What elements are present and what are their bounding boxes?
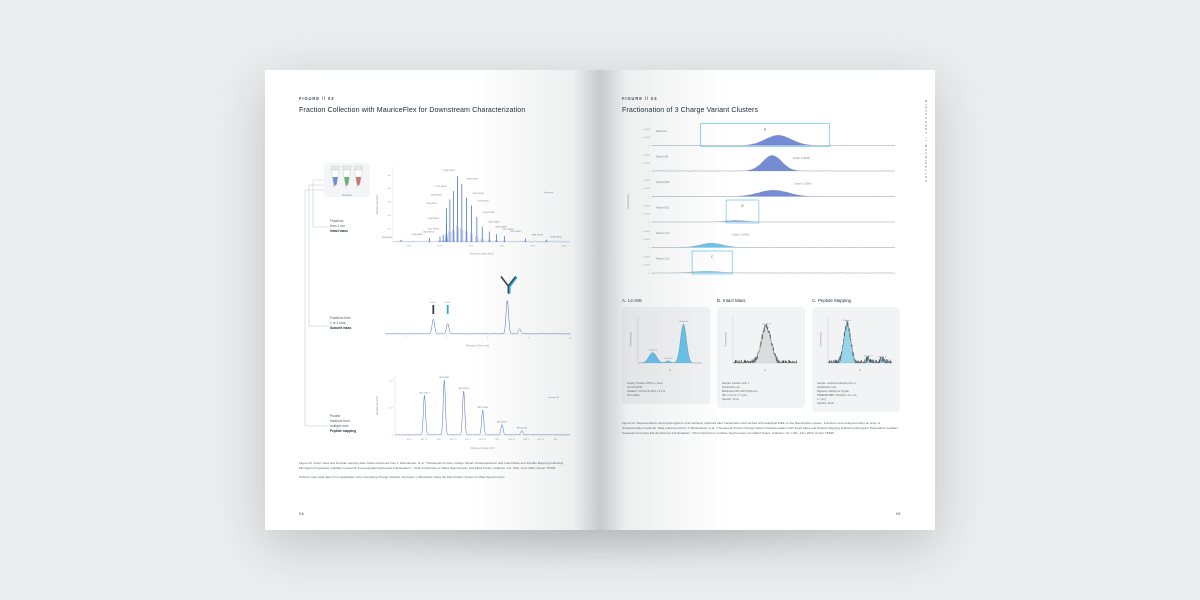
svg-text:1e7: 1e7 [389, 408, 393, 410]
svg-text:10: 10 [569, 338, 572, 340]
svg-text:scFv 2: scFv 2 [445, 302, 452, 304]
svg-text:10,000: 10,000 [643, 265, 650, 267]
svg-text:1557.98791: 1557.98791 [428, 229, 440, 231]
svg-text:3000: 3000 [530, 246, 536, 248]
svg-text:Fluorescence: Fluorescence [630, 331, 633, 347]
svg-text:1e5: 1e5 [387, 228, 391, 230]
right-figure-number: FIGURE // 04 [622, 96, 901, 101]
right-page: BIOTECHNET // MAURICEFLEX FIGURE // 04 F… [600, 70, 935, 530]
svg-text:882: 882 [437, 439, 441, 441]
svg-text:1788.32748: 1788.32748 [443, 170, 455, 172]
svg-text:A: A [764, 128, 767, 132]
panel-lcms: A.LC-MS pIFluorescenceCluster 1Cluster 2… [622, 298, 710, 412]
svg-text:Intensity (Counts): Intensity (Counts) [376, 195, 379, 215]
svg-text:2100.26738: 2100.26738 [483, 212, 495, 214]
svg-text:882.09497: 882.09497 [439, 377, 450, 379]
left-caption-p2: Subunit mass data taken from application… [299, 475, 578, 480]
svg-text:20,000: 20,000 [643, 205, 650, 207]
svg-text:Observed mass (m/z): Observed mass (m/z) [471, 447, 495, 450]
svg-text:883.08470: 883.08470 [497, 421, 508, 423]
panel-lcms-body: pIFluorescenceCluster 1Cluster 2Cluster … [622, 307, 710, 404]
svg-text:Cluster 3: Cluster 3 [877, 356, 886, 359]
svg-text:6: 6 [487, 338, 489, 340]
svg-text:4: 4 [446, 338, 448, 340]
svg-text:3e5: 3e5 [387, 202, 391, 204]
svg-text:5e5: 5e5 [387, 175, 391, 177]
svg-text:882.75400: 882.75400 [478, 407, 489, 409]
left-page-number: 08 [299, 512, 304, 516]
svg-text:881.5: 881.5 [407, 439, 413, 441]
svg-text:3218.64400: 3218.64400 [550, 237, 562, 239]
svg-text:2000: 2000 [468, 246, 474, 248]
svg-text:10,000: 10,000 [643, 239, 650, 241]
right-caption-p1: Figure 04. Representative electropherogr… [622, 421, 901, 436]
svg-text:1506.58554: 1506.58554 [423, 231, 435, 233]
left-page: FIGURE // 03 Fraction Collection with Ma… [265, 70, 600, 530]
panel-intact-mass-title: Intact Mass [723, 298, 745, 303]
svg-text:Fluorescence: Fluorescence [725, 331, 728, 347]
panel-intact-mass: B.Intact Mass pIFluorescenceCluster 3100… [717, 298, 805, 412]
svg-text:882.75: 882.75 [479, 439, 486, 441]
svg-text:20,000: 20,000 [643, 180, 650, 182]
svg-text:2: 2 [405, 338, 407, 340]
svg-text:1500: 1500 [437, 246, 443, 248]
svg-text:1858.06641: 1858.06641 [467, 179, 479, 181]
panel-peptide-mapping-chart: pIFluorescenceCluster 1Cluster 2Cluster … [817, 312, 895, 374]
svg-text:1000: 1000 [406, 246, 412, 248]
svg-text:20,000: 20,000 [643, 231, 650, 233]
panel-lcms-head: A.LC-MS [622, 298, 710, 303]
svg-text:882.5: 882.5 [465, 439, 471, 441]
svg-text:881.75472: 881.75472 [419, 392, 430, 394]
svg-text:pI: pI [764, 369, 766, 372]
panel-intact-mass-body: pIFluorescenceCluster 3100% Sample: frac… [717, 307, 805, 408]
svg-text:20,000: 20,000 [643, 129, 650, 131]
svg-text:0: 0 [649, 247, 651, 249]
svg-text:0: 0 [649, 145, 651, 147]
panel-lcms-title: LC-MS [628, 298, 642, 303]
svg-text:2883.45743: 2883.45743 [531, 234, 543, 236]
panel-peptide-mapping-method: Sample: combined samples from 4 fraction… [817, 382, 895, 406]
svg-text:20,000: 20,000 [643, 154, 650, 156]
flow-step-3-bold: Peptide mapping [330, 429, 356, 433]
svg-text:10,000: 10,000 [643, 163, 650, 165]
svg-text:1338.08490: 1338.08490 [411, 234, 423, 236]
svg-text:884: 884 [554, 439, 558, 441]
svg-text:10,000: 10,000 [643, 214, 650, 216]
svg-text:scFv 1: scFv 1 [430, 302, 437, 304]
left-figure-title: Fraction Collection with MauriceFlex for… [299, 106, 578, 114]
svg-text:2500: 2500 [499, 246, 505, 248]
svg-text:Spectrum: Spectrum [544, 191, 553, 194]
panel-peptide-mapping: C.Peptide Mapping pIFluorescenceCluster … [812, 298, 900, 412]
flow-step-2: Fractions from 1 or 2 runs Subunit mass [330, 316, 351, 331]
analysis-panels: A.LC-MS pIFluorescenceCluster 1Cluster 2… [622, 298, 901, 412]
svg-text:pI: pI [669, 369, 671, 372]
svg-text:1665.95854: 1665.95854 [431, 194, 443, 196]
svg-text:881.75: 881.75 [421, 439, 428, 441]
svg-text:0: 0 [649, 196, 651, 198]
svg-text:Fraction C12: Fraction C12 [656, 232, 670, 235]
booklet-spread: FIGURE // 03 Fraction Collection with Ma… [265, 70, 935, 530]
left-figure-number: FIGURE // 03 [299, 96, 578, 101]
right-figure-title: Fractionation of 3 Charge Variant Cluste… [622, 106, 901, 114]
peptide-mapping-chart: 881.5881.75882882.25882.5882.75883883.25… [371, 366, 576, 451]
left-figure-canvas: Cluster 1 Cluster 2 Cluster 3 Fractions [299, 123, 578, 453]
svg-text:Fluorescence: Fluorescence [627, 193, 630, 209]
svg-text:Fraction C11: Fraction C11 [656, 258, 670, 261]
charge-variant-stack-chart: Fluorescence010,00020,000AReference010,0… [622, 121, 901, 286]
svg-text:Cluster 3 (100%): Cluster 3 (100%) [794, 183, 811, 186]
svg-text:8: 8 [528, 338, 530, 340]
panel-lcms-method: Acquity H-Class UHPLC + Xevo G2-XS QTOF … [627, 382, 705, 398]
svg-text:10,000: 10,000 [643, 137, 650, 139]
svg-text:B: B [741, 204, 744, 208]
svg-text:2542.96512: 2542.96512 [510, 231, 522, 233]
flow-step-3: Pooled fractions from multiple runs Pept… [330, 414, 356, 434]
svg-text:882.42683: 882.42683 [459, 388, 470, 390]
svg-text:4e5: 4e5 [387, 188, 391, 190]
panel-peptide-mapping-body: pIFluorescenceCluster 1Cluster 2Cluster … [812, 307, 900, 412]
svg-text:883.42338: 883.42338 [517, 427, 528, 429]
svg-text:Reference: Reference [656, 130, 667, 133]
svg-text:1725.44000: 1725.44000 [435, 186, 447, 188]
svg-text:Fraction B10: Fraction B10 [656, 181, 670, 184]
panel-lcms-chart: pIFluorescenceCluster 1Cluster 2Cluster … [627, 312, 705, 374]
svg-text:100%: 100% [764, 327, 770, 329]
flow-step-2-bold: Subunit mass [330, 326, 351, 330]
svg-text:Cluster 3 (100%): Cluster 3 (100%) [793, 157, 810, 160]
svg-text:2e7: 2e7 [389, 381, 393, 383]
screenshot-root: FIGURE // 03 Fraction Collection with Ma… [0, 0, 1200, 600]
subunit-mass-chart: 246810Retention Time (min)scFv 1scFv 2 [371, 273, 576, 348]
panel-intact-mass-chart: pIFluorescenceCluster 3100% [722, 312, 800, 374]
svg-text:2186.70823: 2186.70823 [488, 222, 500, 224]
right-caption: Figure 04. Representative electropherogr… [622, 421, 901, 436]
svg-text:Cluster 2: Cluster 2 [664, 357, 673, 360]
svg-text:3500: 3500 [561, 246, 567, 248]
panel-peptide-mapping-head: C.Peptide Mapping [812, 298, 900, 303]
svg-text:Cluster 1: Cluster 1 [843, 319, 852, 322]
flow-step-1-bold: Intact mass [330, 229, 348, 233]
svg-text:Intensity (Counts): Intensity (Counts) [376, 396, 379, 416]
svg-text:883.25: 883.25 [508, 439, 515, 441]
svg-text:1932.33309: 1932.33309 [472, 193, 484, 195]
intact-mass-chart: 1000150020002500300035001e52e53e54e55e5O… [371, 161, 576, 256]
svg-text:882.25: 882.25 [450, 439, 457, 441]
svg-text:2e5: 2e5 [387, 215, 391, 217]
svg-text:20,000: 20,000 [643, 256, 650, 258]
svg-text:pI: pI [859, 369, 861, 372]
panel-intact-mass-method: Sample: fractions from 1 fractionation r… [722, 382, 800, 402]
left-caption-p1: Figure 03. Intact mass and Peptide mappi… [299, 461, 578, 471]
svg-text:0: 0 [649, 222, 651, 224]
svg-text:Cluster 3: Cluster 3 [679, 320, 688, 323]
left-caption: Figure 03. Intact mass and Peptide mappi… [299, 461, 578, 480]
svg-text:Cluster 1 (100%): Cluster 1 (100%) [732, 234, 749, 237]
svg-text:Cluster 3: Cluster 3 [762, 323, 771, 326]
svg-text:Fluorescence: Fluorescence [820, 331, 823, 347]
svg-text:883.75: 883.75 [537, 439, 544, 441]
panel-intact-mass-head: B.Intact Mass [717, 298, 805, 303]
svg-text:878.44010: 878.44010 [382, 237, 393, 239]
svg-text:0: 0 [649, 171, 651, 173]
svg-text:Cluster 1: Cluster 1 [648, 349, 657, 352]
svg-text:Retention Time (min): Retention Time (min) [466, 345, 489, 348]
right-page-number: 09 [896, 512, 901, 516]
svg-text:883: 883 [495, 439, 499, 441]
svg-text:Cluster 2: Cluster 2 [864, 355, 873, 358]
running-head: BIOTECHNET // MAURICEFLEX [924, 100, 928, 183]
svg-text:2012.80520: 2012.80520 [477, 201, 489, 203]
svg-text:C: C [711, 255, 714, 259]
flow-step-1: Fractions from 1 run Intact mass [330, 219, 348, 234]
svg-text:1610.43570: 1610.43570 [426, 203, 438, 205]
svg-text:883.5: 883.5 [524, 439, 530, 441]
svg-text:Fraction B8: Fraction B8 [656, 156, 669, 159]
svg-text:Fraction B11: Fraction B11 [656, 207, 670, 210]
svg-text:0: 0 [392, 435, 394, 437]
svg-text:1608.48241: 1608.48241 [428, 218, 440, 220]
svg-text:Fraction 98: Fraction 98 [548, 396, 560, 399]
svg-text:0: 0 [649, 273, 651, 275]
svg-text:Observed mass (m/z): Observed mass (m/z) [470, 253, 494, 256]
panel-peptide-mapping-title: Peptide Mapping [818, 298, 851, 303]
svg-text:10,000: 10,000 [643, 188, 650, 190]
